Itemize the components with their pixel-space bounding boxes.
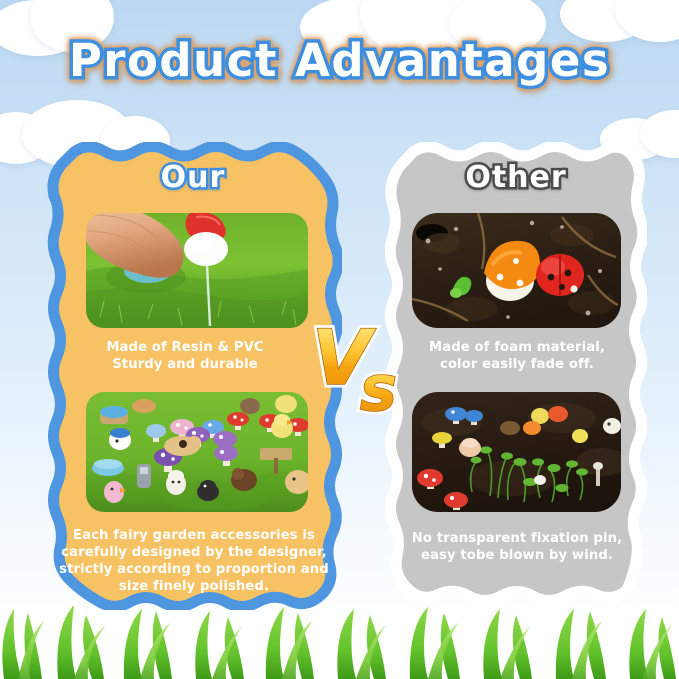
caption-other-1: Made of foam material, color easily fade…	[398, 339, 636, 373]
caption-line: easy tobe blown by wind.	[398, 547, 636, 564]
caption-line: Made of foam material,	[398, 339, 636, 356]
page-title: Product Advantages	[69, 34, 610, 87]
photo-many-colorful-fairy-garden-miniatures-on-moss	[86, 392, 308, 512]
page-title-wrap: Product Advantages	[0, 34, 679, 87]
panel-other-heading: Other	[385, 160, 647, 195]
photo-miniatures-scattered-on-dark-soil-with-seedlings	[412, 392, 621, 512]
vs-badge-icon: V V s s	[306, 318, 418, 414]
vs-letter-s-inner: s	[360, 352, 397, 414]
caption-line: carefully designed by the designer,	[52, 544, 336, 561]
caption-line: No transparent fixation pin,	[398, 530, 636, 547]
caption-line: size finely polished.	[52, 578, 336, 595]
caption-our-2: Each fairy garden accessories is careful…	[52, 527, 336, 595]
caption-line: Made of Resin & PVC	[60, 339, 310, 356]
caption-line: strictly according to proportion and	[52, 561, 336, 578]
caption-line: Sturdy and durable	[60, 356, 310, 373]
caption-our-1: Made of Resin & PVC Sturdy and durable	[60, 339, 310, 373]
photo-orange-foam-mushroom-and-ladybug-on-soil	[412, 213, 621, 328]
photo-hand-holding-mushroom-with-clear-pin-on-moss	[86, 213, 308, 328]
caption-other-2: No transparent fixation pin, easy tobe b…	[398, 530, 636, 564]
caption-line: Each fairy garden accessories is	[52, 527, 336, 544]
caption-line: color easily fade off.	[398, 356, 636, 373]
panel-our-heading: Our	[44, 160, 342, 195]
